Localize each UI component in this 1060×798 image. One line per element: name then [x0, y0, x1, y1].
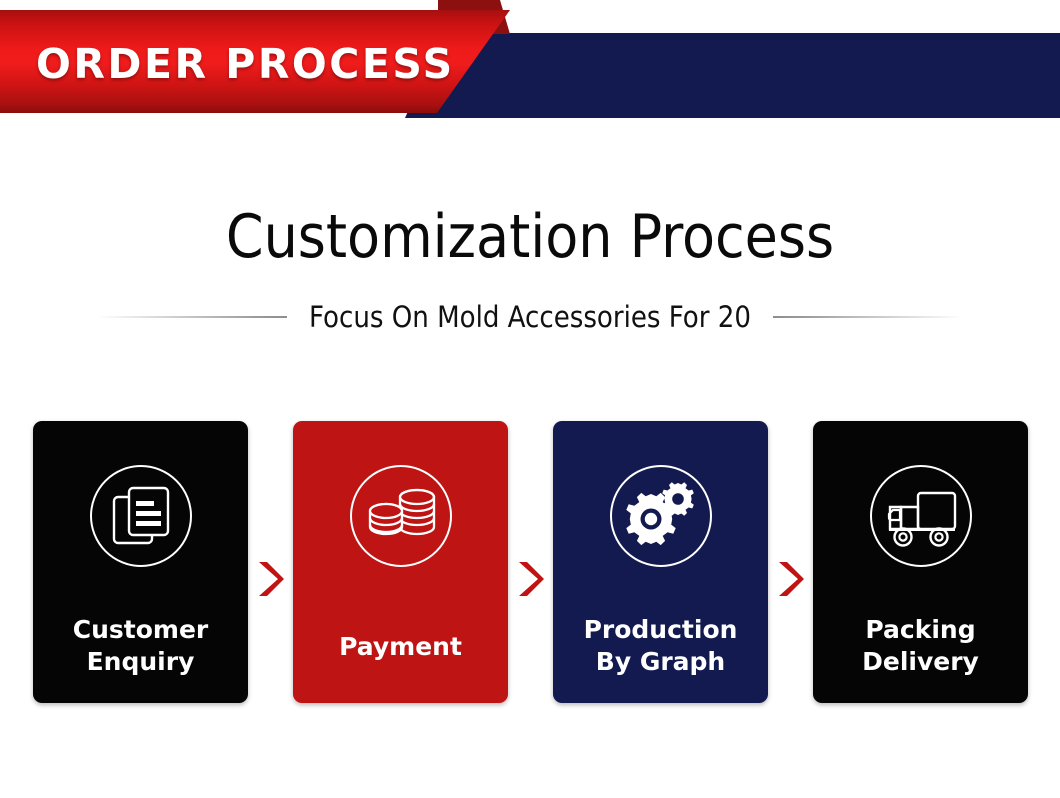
- step-card-label: Production By Graph: [553, 614, 768, 678]
- page-subtitle: Focus On Mold Accessories For 20: [309, 300, 751, 334]
- step-label-line1: Packing: [813, 614, 1028, 646]
- arrow-2: [508, 560, 553, 598]
- step-card-packing-delivery[interactable]: Packing Delivery: [813, 421, 1028, 703]
- step-label-line1: Payment: [293, 631, 508, 663]
- step-card-production-by-graph[interactable]: Production By Graph: [553, 421, 768, 703]
- banner-title: ORDER PROCESS: [36, 40, 455, 88]
- step-label-line2: Delivery: [813, 646, 1028, 678]
- step-label-line1: Production: [553, 614, 768, 646]
- chevron-right-icon: [256, 560, 286, 598]
- chevron-right-icon: [776, 560, 806, 598]
- chevron-right-icon: [516, 560, 546, 598]
- coins-stack-icon: [348, 463, 454, 569]
- step-card-label: Packing Delivery: [813, 614, 1028, 678]
- step-card-customer-enquiry[interactable]: Customer Enquiry: [33, 421, 248, 703]
- banner-navy-bar: [405, 33, 1060, 118]
- page-title: Customization Process: [0, 202, 1060, 272]
- arrow-1: [248, 560, 293, 598]
- order-process-banner: ORDER PROCESS: [0, 0, 1060, 140]
- documents-icon: [88, 463, 194, 569]
- step-card-label: Customer Enquiry: [33, 614, 248, 678]
- step-label-line1: Customer: [33, 614, 248, 646]
- subtitle-rule-left: [97, 316, 287, 318]
- step-label-line2: Enquiry: [33, 646, 248, 678]
- step-card-label: Payment: [293, 631, 508, 663]
- arrow-3: [768, 560, 813, 598]
- delivery-truck-icon: [868, 463, 974, 569]
- step-label-line2: By Graph: [553, 646, 768, 678]
- step-card-payment[interactable]: Payment: [293, 421, 508, 703]
- gears-icon: [608, 463, 714, 569]
- subtitle-rule-right: [773, 316, 963, 318]
- subtitle-row: Focus On Mold Accessories For 20: [0, 300, 1060, 334]
- process-steps: Customer Enquiry: [33, 421, 1030, 703]
